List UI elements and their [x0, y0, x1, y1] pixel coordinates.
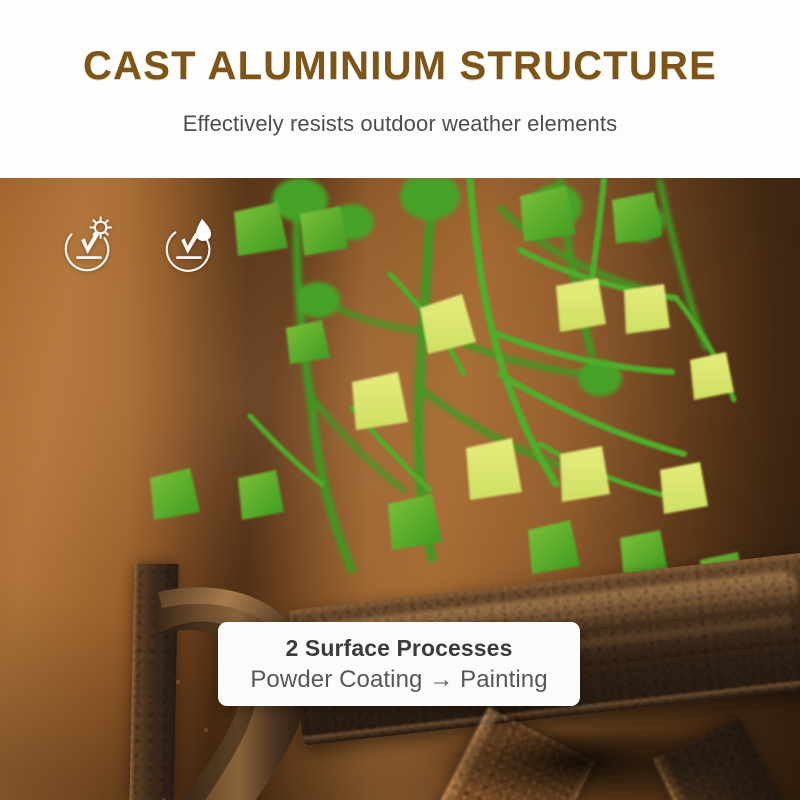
frame-joint-shadow: [430, 734, 730, 800]
feature-badge-group: [58, 213, 220, 275]
sun-resistant-badge: [58, 213, 120, 275]
page-subtitle: Effectively resists outdoor weather elem…: [183, 111, 617, 137]
callout-subtitle: Powder Coating → Painting: [250, 667, 547, 694]
surface-process-callout: 2 Surface Processes Powder Coating → Pai…: [218, 622, 580, 706]
water-resistant-badge: [158, 213, 220, 275]
product-photo: [0, 178, 800, 800]
water-drop-check-icon: [158, 213, 220, 275]
callout-title: 2 Surface Processes: [286, 636, 513, 662]
header-banner: CAST ALUMINIUM STRUCTURE Effectively res…: [0, 0, 800, 178]
sun-check-icon: [58, 213, 120, 275]
page-title: CAST ALUMINIUM STRUCTURE: [83, 44, 717, 89]
